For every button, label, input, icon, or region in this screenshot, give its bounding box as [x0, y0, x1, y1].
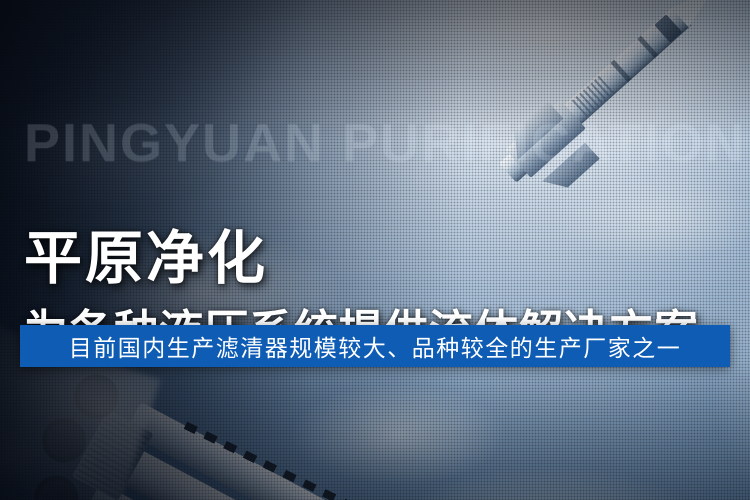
hero-banner: PINGYUAN PURIFICATION 平原净化 为各种液压系统提供流体解决…: [0, 0, 750, 500]
tagline-text: 目前国内生产滤清器规模较大、品种较全的生产厂家之一: [69, 329, 682, 363]
tagline-bar: 目前国内生产滤清器规模较大、品种较全的生产厂家之一: [20, 325, 730, 367]
page-title: 平原净化: [24, 211, 268, 295]
